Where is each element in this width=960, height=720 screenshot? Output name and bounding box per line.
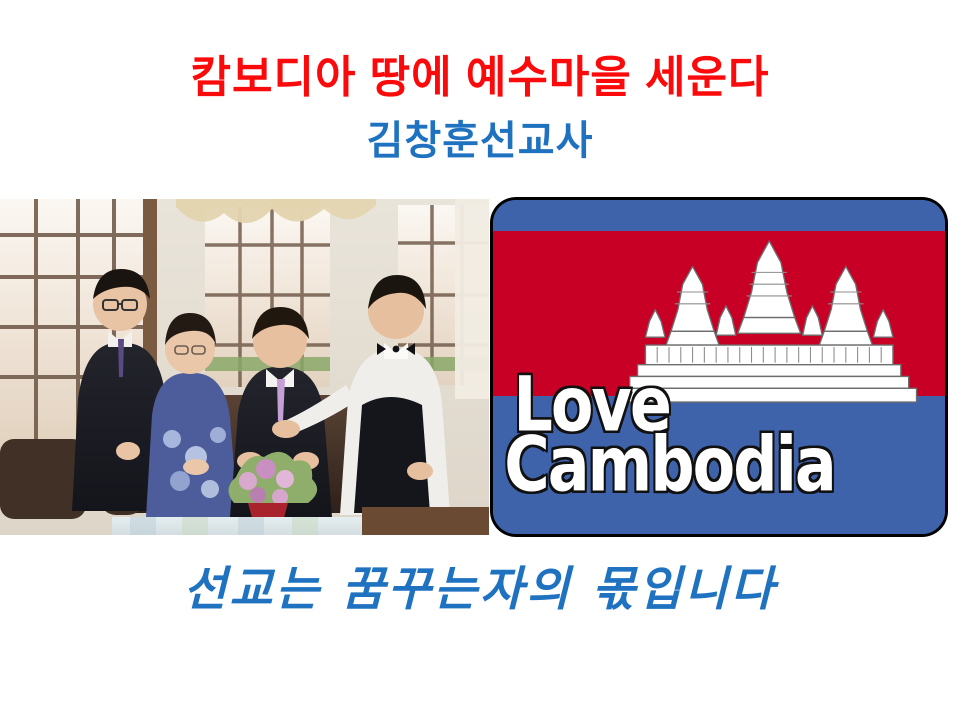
page-subtitle: 김창훈선교사 — [0, 116, 960, 166]
footer-slogan: 선교는 꿈꾸는자의 몫입니다 — [0, 552, 960, 628]
page-title: 캄보디아 땅에 예수마을 세운다 — [0, 50, 960, 106]
caption-cambodia: Cambodia — [504, 427, 834, 503]
slide-canvas: 캄보디아 땅에 예수마을 세운다 김창훈선교사 — [0, 0, 960, 720]
love-cambodia-flag-graphic: Love Cambodia — [490, 197, 948, 537]
family-portrait-photo — [0, 199, 489, 535]
family-portrait-illustration — [0, 199, 489, 535]
flag-caption: Love Cambodia — [493, 200, 945, 534]
cambodia-flag: Love Cambodia — [493, 200, 945, 534]
